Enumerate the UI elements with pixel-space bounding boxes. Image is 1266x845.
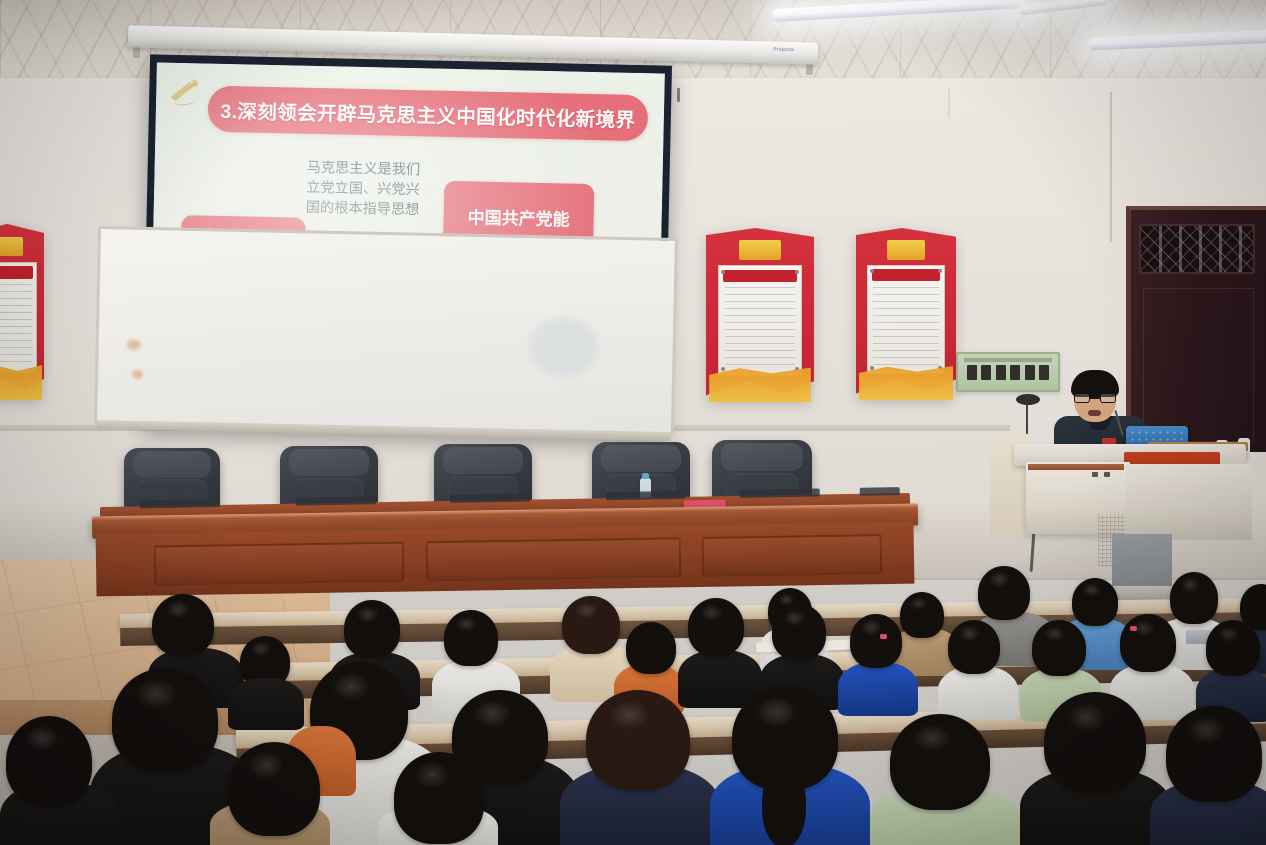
podium-column: [1112, 534, 1172, 592]
podium-right-body: [1126, 464, 1252, 540]
lecture-hall-scene: Projecta 3.深刻领会开辟马克思主义中国化时代化新境界 马克思主义是我们…: [0, 0, 1266, 845]
whiteboard-marker-smudge: [132, 370, 143, 379]
poster-emblem-icon: [887, 240, 925, 259]
poster-emblem-icon: [0, 237, 23, 257]
student-head: [6, 716, 92, 806]
student-head: [1072, 578, 1118, 626]
student-head: [1044, 692, 1146, 792]
door-grille-window: [1139, 224, 1255, 274]
glasses-icon: [1074, 393, 1116, 403]
whiteboard-marker-smudge: [528, 316, 599, 377]
student-ponytail: [762, 770, 806, 845]
honor-display-board: [956, 352, 1060, 392]
student-head: [900, 592, 944, 638]
podium-left-body: [1026, 462, 1130, 534]
student-body: [938, 666, 1018, 720]
student-head: [890, 714, 990, 810]
student-head: [626, 622, 676, 674]
student-head: [1206, 620, 1260, 676]
student-head: [948, 620, 1000, 674]
poster-body-text: [725, 287, 796, 369]
whiteboard-marker-smudge: [127, 340, 141, 350]
student-head: [394, 752, 484, 844]
student-head: [228, 742, 320, 836]
poster-heading-band: [723, 270, 797, 282]
student-head: [344, 600, 400, 658]
projector-brand-label: Projecta: [773, 47, 794, 54]
wall-poster-middle-2: [856, 228, 956, 404]
student-head: [586, 690, 690, 790]
poster-emblem-icon: [739, 240, 780, 260]
student-head: [152, 594, 214, 656]
student-head: [688, 598, 744, 656]
poster-heading-band: [872, 269, 941, 281]
student-head: [772, 604, 826, 660]
whiteboard: [94, 226, 678, 436]
table-panel: [154, 542, 405, 586]
student-body: [228, 678, 304, 730]
bottle-cap: [642, 473, 649, 479]
student-head: [978, 566, 1030, 620]
wall-seam: [948, 88, 950, 118]
hair-clip: [1130, 626, 1137, 631]
student-head: [850, 614, 902, 668]
table-panel: [426, 537, 682, 581]
hair-clip: [880, 634, 887, 639]
student-head: [1120, 614, 1176, 672]
poster-body-text: [873, 287, 939, 368]
student-head: [562, 596, 620, 654]
student-body: [838, 662, 918, 716]
student-head: [444, 610, 498, 666]
honor-board-title-bar: [964, 358, 1052, 362]
wall-seam: [1110, 92, 1112, 242]
student-head: [1166, 706, 1262, 802]
wall-poster-left: [0, 224, 44, 404]
student-head: [112, 668, 218, 772]
poster-heading-band: [0, 266, 33, 278]
door-panel: [1143, 288, 1254, 442]
podium-control-strip[interactable]: [1028, 464, 1124, 470]
wall-poster-middle-1: [706, 228, 814, 406]
table-panel: [702, 534, 883, 577]
student-head: [1032, 620, 1086, 676]
lecturer-mouth: [1088, 410, 1101, 416]
slide-title: 3.深刻领会开辟马克思主义中国化时代化新境界: [207, 86, 648, 142]
poster-body-text: [0, 284, 32, 367]
party-emblem-icon: [165, 74, 204, 109]
head-table-front: [96, 522, 915, 597]
slide-note-text: 马克思主义是我们立党立国、兴党兴国的根本指导思想: [306, 158, 423, 221]
student-head: [1170, 572, 1218, 624]
microphone-icon: [1016, 394, 1040, 405]
